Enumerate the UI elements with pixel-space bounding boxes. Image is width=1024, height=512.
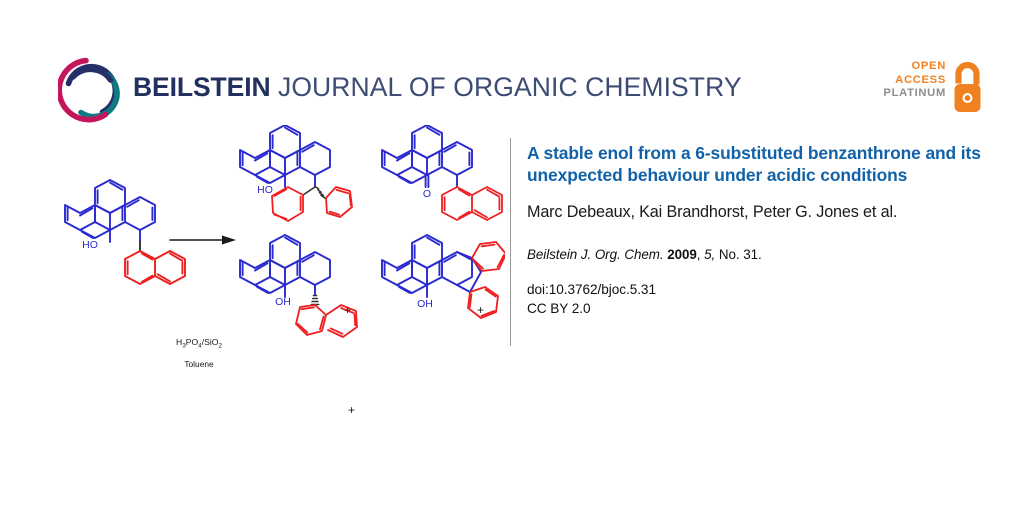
- citation-year: 2009: [667, 247, 697, 262]
- open-access-line-platinum: PLATINUM: [883, 87, 946, 101]
- journal-header: BEILSTEIN JOURNAL OF ORGANIC CHEMISTRY O…: [0, 0, 1024, 132]
- column-divider: [510, 138, 511, 346]
- reaction-scheme-graphic: HO: [0, 125, 505, 375]
- solvent-label: Toluene: [168, 359, 230, 369]
- citation-journal: Beilstein J. Org. Chem.: [527, 247, 664, 262]
- article-info-panel: A stable enol from a 6-substituted benza…: [527, 142, 987, 319]
- open-access-line-access: ACCESS: [883, 74, 946, 88]
- article-citation: Beilstein J. Org. Chem. 2009, 5, No. 31.: [527, 247, 987, 262]
- plus-sign-3: +: [348, 403, 355, 417]
- product4-oh-label: OH: [417, 298, 433, 310]
- reactant-ho-label: HO: [82, 239, 98, 251]
- open-access-badge: OPEN ACCESS PLATINUM: [872, 60, 984, 118]
- wordmark-light: JOURNAL OF ORGANIC CHEMISTRY: [271, 72, 742, 102]
- wordmark-bold: BEILSTEIN: [133, 72, 271, 102]
- article-license: CC BY 2.0: [527, 299, 987, 318]
- article-authors: Marc Debeaux, Kai Brandhorst, Peter G. J…: [527, 202, 987, 223]
- product1-ho-label: HO: [257, 184, 273, 196]
- journal-wordmark: BEILSTEIN JOURNAL OF ORGANIC CHEMISTRY: [133, 72, 742, 103]
- citation-comma: ,: [697, 247, 701, 262]
- article-title: A stable enol from a 6-substituted benza…: [527, 142, 987, 187]
- reagent-label: H3PO4/SiO2: [168, 337, 230, 350]
- product3-oh-label: OH: [275, 296, 291, 308]
- open-access-text: OPEN ACCESS PLATINUM: [883, 60, 946, 101]
- open-padlock-icon: [951, 61, 984, 115]
- product2-o-label: O: [423, 188, 431, 200]
- plus-sign-1: +: [344, 303, 351, 317]
- article-doi[interactable]: doi:10.3762/bjoc.5.31: [527, 280, 987, 299]
- beilstein-spiral-logo-icon: [58, 57, 124, 123]
- open-access-line-open: OPEN: [883, 60, 946, 74]
- article-doi-block: doi:10.3762/bjoc.5.31 CC BY 2.0: [527, 280, 987, 319]
- reaction-scheme: HO: [0, 125, 505, 375]
- citation-volume: 5,: [704, 247, 715, 262]
- citation-number: No. 31.: [719, 247, 762, 262]
- plus-sign-2: +: [477, 303, 484, 317]
